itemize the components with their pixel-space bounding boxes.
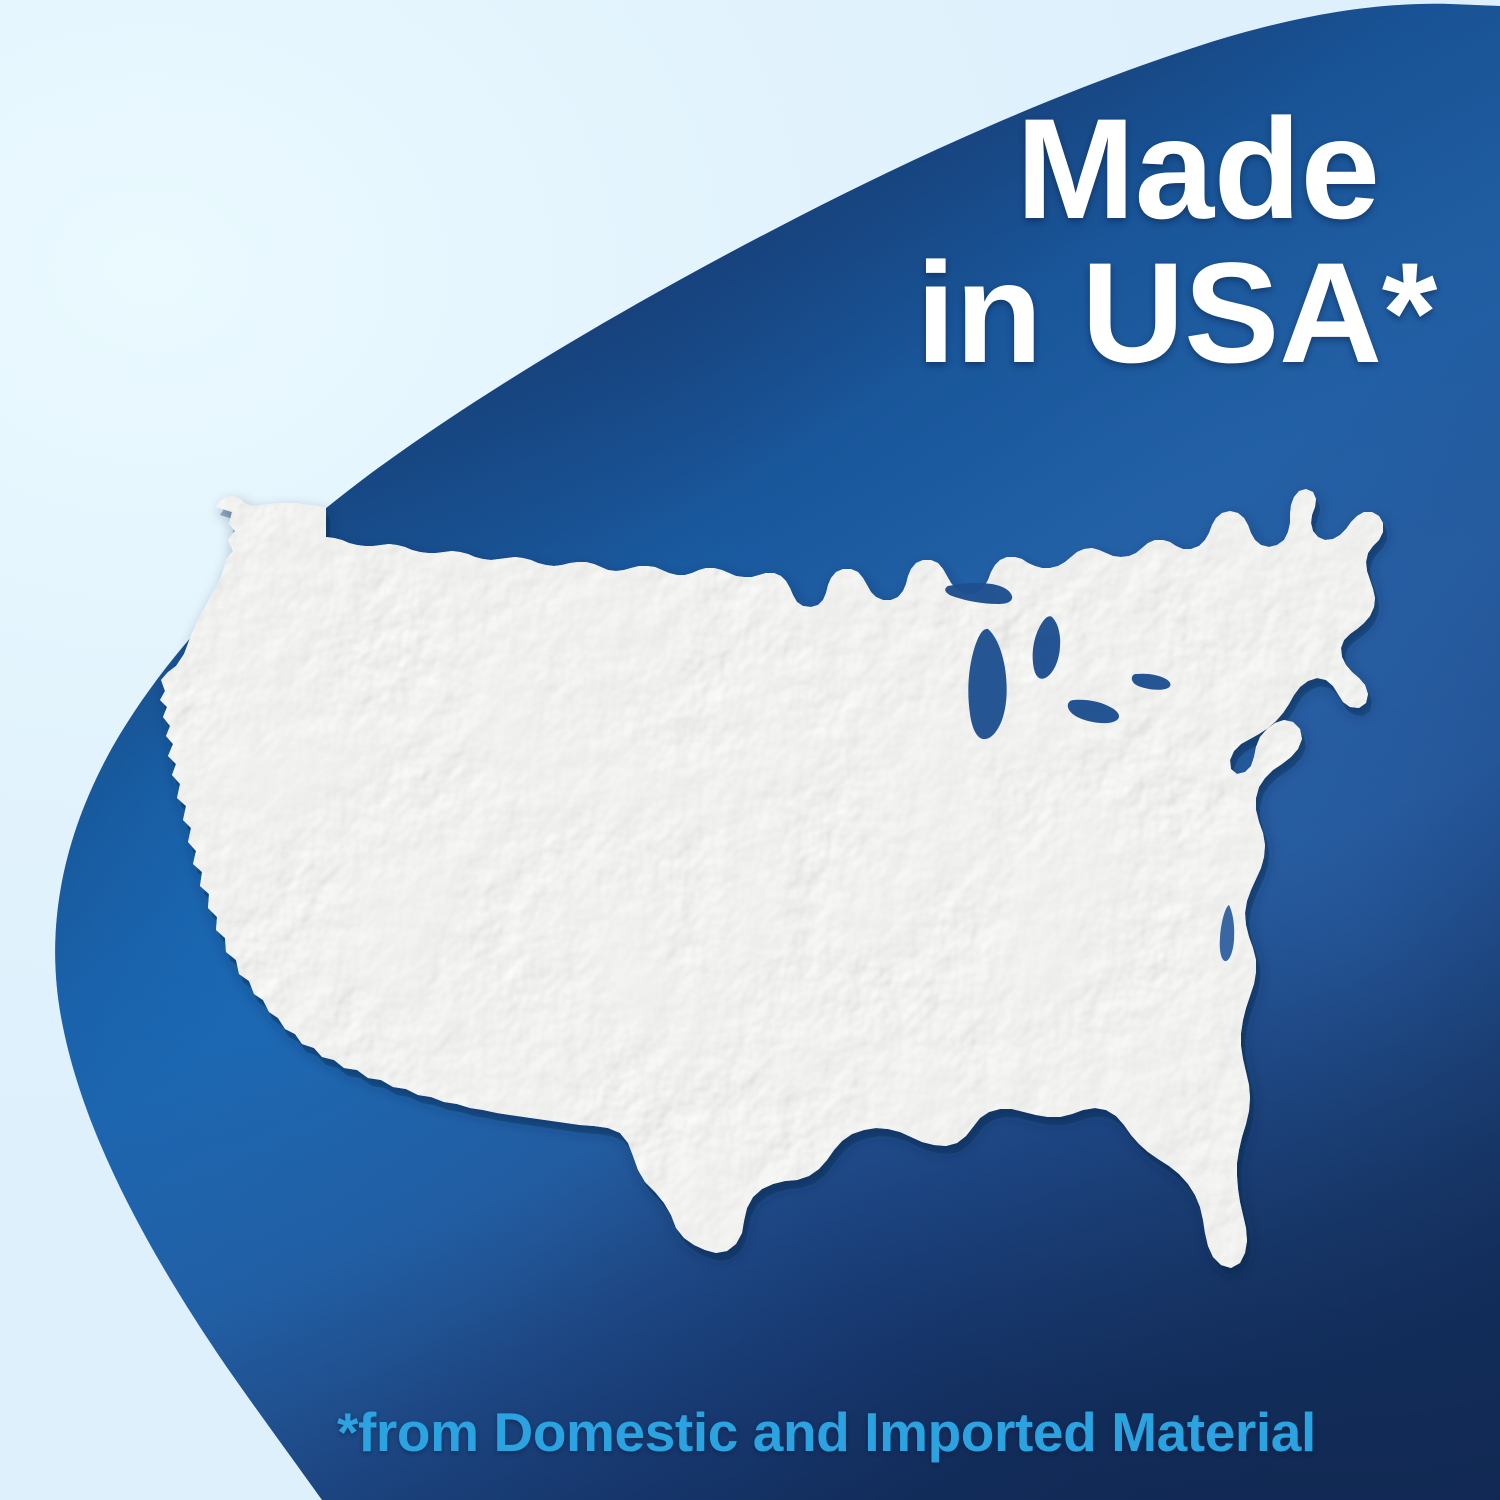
promo-graphic-canvas: Made in USA* *from Domestic and Imported… <box>0 0 1500 1500</box>
text-layer: Made in USA* *from Domestic and Imported… <box>0 0 1500 1500</box>
headline-line-1: Made <box>1016 98 1380 241</box>
footnote-disclaimer: *from Domestic and Imported Material <box>337 1400 1467 1464</box>
headline-line-2: in USA* <box>916 242 1437 385</box>
